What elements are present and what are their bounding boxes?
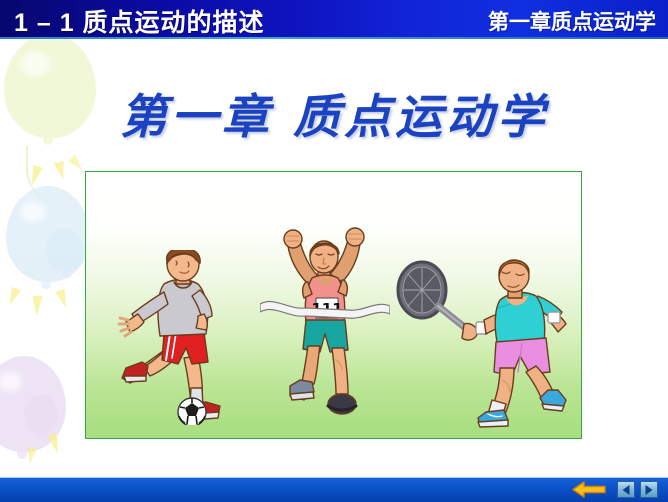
ray-icon — [27, 165, 43, 187]
figure-tennis-player — [396, 248, 571, 428]
balloon-blue-small-icon — [46, 228, 84, 272]
triangle-left-icon — [623, 485, 630, 495]
back-arrow-icon[interactable] — [572, 481, 606, 498]
balloon-purple-small-icon — [24, 394, 58, 434]
header-section-title: 1 – 1 质点运动的描述 — [14, 3, 265, 39]
sports-illustration: 111 — [85, 171, 582, 439]
balloon-green-string — [26, 146, 64, 206]
ray-icon — [25, 447, 38, 464]
tennis-racket-icon — [398, 262, 468, 330]
next-slide-button[interactable] — [640, 481, 658, 498]
prev-slide-button[interactable] — [617, 481, 635, 498]
balloon-blue-highlight — [20, 202, 46, 222]
presentation-slide: 1 – 1 质点运动的描述 第一章质点运动学 第一章 质点运动学 — [0, 0, 668, 502]
ray-icon — [31, 296, 42, 317]
header-chapter-title: 第一章质点运动学 — [488, 6, 656, 36]
soccer-ball-icon — [178, 398, 206, 425]
figure-runner: 111 — [260, 222, 390, 422]
slide-footer-bar — [0, 477, 668, 502]
balloon-purple-icon — [0, 356, 66, 452]
ray-icon — [5, 287, 21, 308]
ray-icon — [47, 433, 62, 455]
page-title: 第一章 质点运动学 — [0, 78, 668, 147]
ray-icon — [54, 161, 68, 181]
ray-icon — [68, 155, 86, 174]
balloon-blue-icon — [6, 186, 90, 282]
balloon-green-highlight — [20, 52, 50, 76]
triangle-right-icon — [646, 485, 653, 495]
slide-header-bar: 1 – 1 质点运动的描述 第一章质点运动学 — [0, 0, 668, 39]
balloon-purple-highlight — [0, 372, 22, 392]
ray-icon — [55, 289, 71, 309]
figure-soccer-player — [108, 250, 238, 425]
